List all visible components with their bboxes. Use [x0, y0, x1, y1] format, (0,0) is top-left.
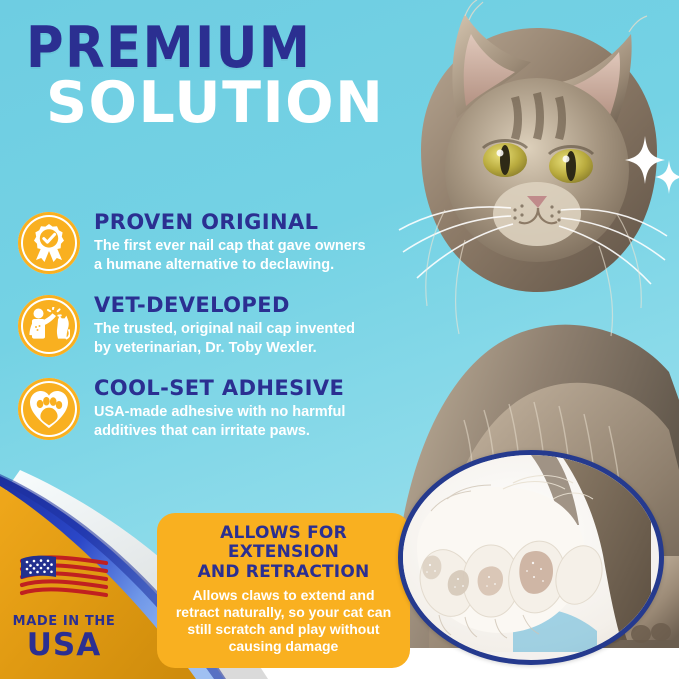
callout-description: Allows claws to extend and retract natur… — [169, 587, 398, 655]
feature-list: PROVEN ORIGINAL The first ever nail cap … — [18, 208, 418, 457]
usa-flag-icon — [18, 553, 110, 605]
product-infographic: PREMIUM SOLUTION PROVEN ORIGINAL The fir… — [0, 0, 679, 679]
feature-title: PROVEN ORIGINAL — [94, 210, 369, 234]
cat-paw-with-nail-caps-closeup — [398, 450, 664, 665]
feature-title: VET-DEVELOPED — [94, 293, 369, 317]
callout-title-line-2: AND RETRACTION — [169, 563, 398, 582]
feature-description: USA-made adhesive with no harmful additi… — [94, 403, 369, 440]
callout-title-line-1: ALLOWS FOR EXTENSION — [169, 524, 398, 562]
feature-title: COOL-SET ADHESIVE — [94, 376, 369, 400]
usa-badge-line-2: USA — [10, 629, 118, 661]
sparkle-star-icon — [655, 160, 679, 199]
feature-description: The trusted, original nail cap invented … — [94, 320, 369, 357]
feature-item-proven-original: PROVEN ORIGINAL The first ever nail cap … — [18, 208, 418, 274]
made-in-usa-badge: MADE IN THE USA — [10, 553, 118, 661]
award-ribbon-check-icon — [18, 212, 80, 274]
feature-item-cool-set-adhesive: COOL-SET ADHESIVE USA-made adhesive with… — [18, 374, 418, 440]
heart-paw-icon — [18, 378, 80, 440]
feature-description: The first ever nail cap that gave owners… — [94, 237, 369, 274]
vet-high-five-cat-icon — [18, 295, 80, 357]
feature-item-vet-developed: VET-DEVELOPED The trusted, original nail… — [18, 291, 418, 357]
callout-extension-retraction: ALLOWS FOR EXTENSION AND RETRACTION Allo… — [157, 513, 410, 668]
